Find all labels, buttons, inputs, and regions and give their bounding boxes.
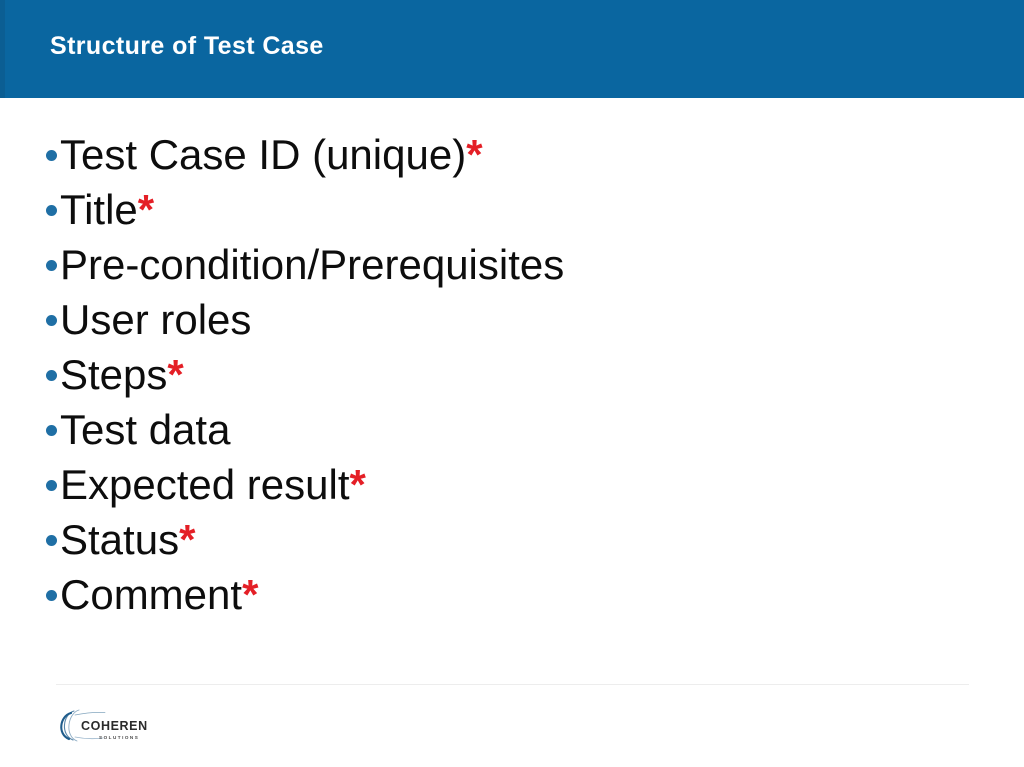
header-left-accent bbox=[0, 0, 5, 98]
list-item-label: Test Case ID (unique) bbox=[60, 131, 466, 179]
logo-tagline-text: SOLUTIONS bbox=[99, 735, 139, 740]
list-item: Expected result* bbox=[46, 461, 976, 516]
bullet-dot-icon bbox=[46, 535, 57, 546]
required-marker: * bbox=[350, 461, 366, 509]
list-item: User roles bbox=[46, 296, 976, 351]
list-item-label: Steps bbox=[60, 351, 167, 399]
list-item-label: Status bbox=[60, 516, 179, 564]
list-item: Steps* bbox=[46, 351, 976, 406]
slide: Structure of Test Case Test Case ID (uni… bbox=[0, 0, 1024, 767]
list-item: Test Case ID (unique)* bbox=[46, 131, 976, 186]
required-marker: * bbox=[242, 571, 258, 619]
bullet-dot-icon bbox=[46, 370, 57, 381]
list-item: Comment* bbox=[46, 571, 976, 626]
list-item: Status* bbox=[46, 516, 976, 571]
page-title: Structure of Test Case bbox=[50, 30, 324, 62]
list-item-label: User roles bbox=[60, 296, 251, 344]
footer-divider bbox=[56, 684, 969, 685]
bullet-dot-icon bbox=[46, 150, 57, 161]
bullet-list: Test Case ID (unique)* Title* Pre-condit… bbox=[46, 131, 976, 626]
list-item-label: Test data bbox=[60, 406, 230, 454]
slide-header: Structure of Test Case bbox=[0, 0, 1024, 98]
list-item: Pre-condition/Prerequisites bbox=[46, 241, 976, 296]
bullet-dot-icon bbox=[46, 590, 57, 601]
bullet-dot-icon bbox=[46, 425, 57, 436]
required-marker: * bbox=[179, 516, 195, 564]
list-item-label: Comment bbox=[60, 571, 242, 619]
list-item-label: Expected result bbox=[60, 461, 350, 509]
bullet-dot-icon bbox=[46, 205, 57, 216]
bullet-dot-icon bbox=[46, 480, 57, 491]
bullet-dot-icon bbox=[46, 260, 57, 271]
coherent-solutions-logo: COHERENT SOLUTIONS bbox=[55, 707, 147, 747]
list-item: Test data bbox=[46, 406, 976, 461]
list-item: Title* bbox=[46, 186, 976, 241]
list-item-label: Pre-condition/Prerequisites bbox=[60, 241, 564, 289]
list-item-label: Title bbox=[60, 186, 138, 234]
logo-name-text: COHERENT bbox=[81, 719, 147, 733]
required-marker: * bbox=[138, 186, 154, 234]
bullet-dot-icon bbox=[46, 315, 57, 326]
required-marker: * bbox=[167, 351, 183, 399]
required-marker: * bbox=[466, 131, 482, 179]
logo-mark-icon: COHERENT SOLUTIONS bbox=[55, 707, 147, 747]
